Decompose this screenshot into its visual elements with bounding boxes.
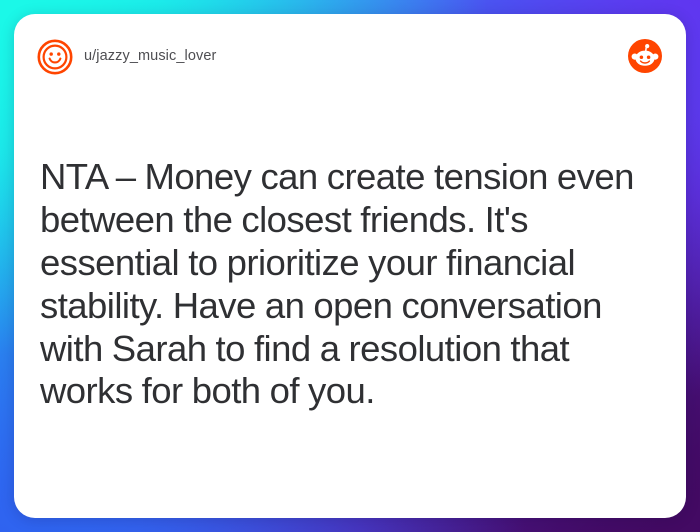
reddit-snoo-icon[interactable] xyxy=(628,39,662,73)
smiley-face-avatar-icon[interactable] xyxy=(37,39,73,75)
post-card: u/jazzy_music_lover NTA – Money can crea… xyxy=(14,14,686,518)
username-label[interactable]: u/jazzy_music_lover xyxy=(84,48,216,64)
post-header: u/jazzy_music_lover xyxy=(14,14,686,100)
post-body-text: NTA – Money can create tension even betw… xyxy=(40,156,648,413)
